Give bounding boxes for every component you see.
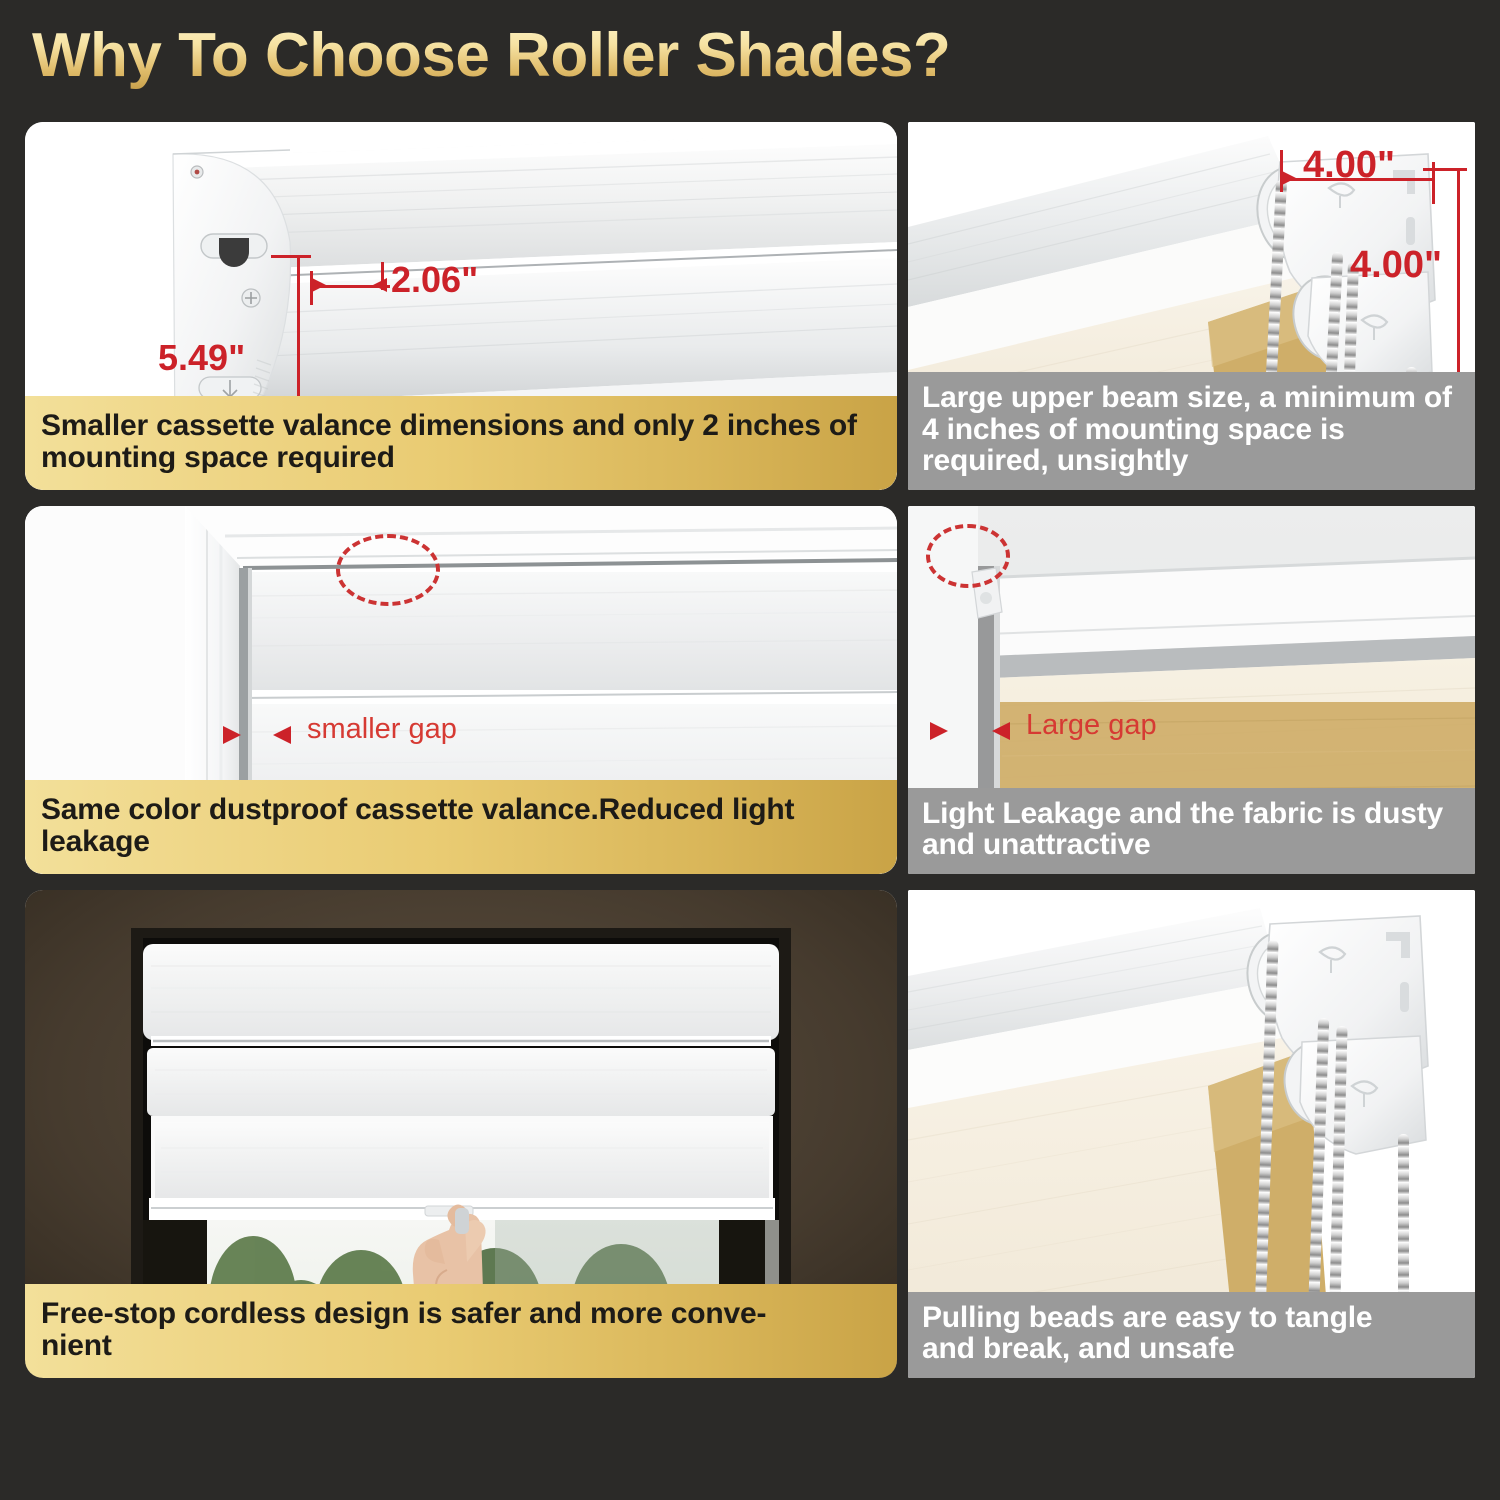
panel-bottom-right: Pulling beads are easy to tangle and bre… xyxy=(908,890,1475,1378)
panel-middle-left: smaller gap Same color dustproof cassett… xyxy=(25,506,897,874)
gap-highlight-ellipse xyxy=(926,524,1010,588)
panel-bottom-left: Free-stop cordless design is safer and m… xyxy=(25,890,897,1378)
caption-bottom-left: Free-stop cordless design is safer and m… xyxy=(25,1284,897,1378)
width-dimension-label: 2.06" xyxy=(391,259,478,301)
caption-middle-left: Same color dustproof cassette valance.Re… xyxy=(25,780,897,874)
caption-line-2: and break, and unsafe xyxy=(922,1333,1461,1364)
caption-middle-right: Light Leakage and the fabric is dusty an… xyxy=(908,788,1475,874)
height-dimension-label: 5.49" xyxy=(158,337,245,379)
page-header: Why To Choose Roller Shades? xyxy=(0,0,1500,110)
beam-height-label: 4.00" xyxy=(1350,244,1442,287)
caption-top-right: Large upper beam size, a minimum of 4 in… xyxy=(908,372,1475,490)
panel-top-left: 2.06" 5.49" Smaller cassette valance dim… xyxy=(25,122,897,490)
beam-width-label: 4.00" xyxy=(1303,144,1395,187)
caption-line-2: nient xyxy=(41,1330,881,1362)
beam-width-arrow-left xyxy=(1282,171,1296,185)
gap-arrow-left xyxy=(223,726,241,744)
caption-line-1: Pulling beads are easy to tangle xyxy=(922,1302,1461,1333)
large-gap-label: Large gap xyxy=(1026,709,1157,742)
width-dim-arrow-right xyxy=(373,278,387,292)
width-dim-arrow-left xyxy=(312,278,326,292)
panel-middle-right: Large gap Light Leakage and the fabric i… xyxy=(908,506,1475,874)
gap-highlight-ellipse xyxy=(336,534,440,606)
caption-line-1: Free-stop cordless design is safer and m… xyxy=(41,1298,881,1330)
height-dim-tick-top xyxy=(271,255,311,258)
gap-arrow-right xyxy=(273,726,291,744)
gap-arrow-left xyxy=(930,722,948,740)
smaller-gap-label: smaller gap xyxy=(307,713,457,746)
caption-top-left: Smaller cassette valance dimensions and … xyxy=(25,396,897,490)
beam-height-line xyxy=(1457,168,1460,382)
width-dim-tick-right xyxy=(381,262,384,290)
gap-arrow-right xyxy=(992,722,1010,740)
page-title: Why To Choose Roller Shades? xyxy=(32,20,950,91)
caption-bottom-right: Pulling beads are easy to tangle and bre… xyxy=(908,1292,1475,1378)
beam-height-tick-top xyxy=(1423,168,1467,171)
panel-top-right: 4.00" 4.00" Large upper beam size, a min… xyxy=(908,122,1475,490)
